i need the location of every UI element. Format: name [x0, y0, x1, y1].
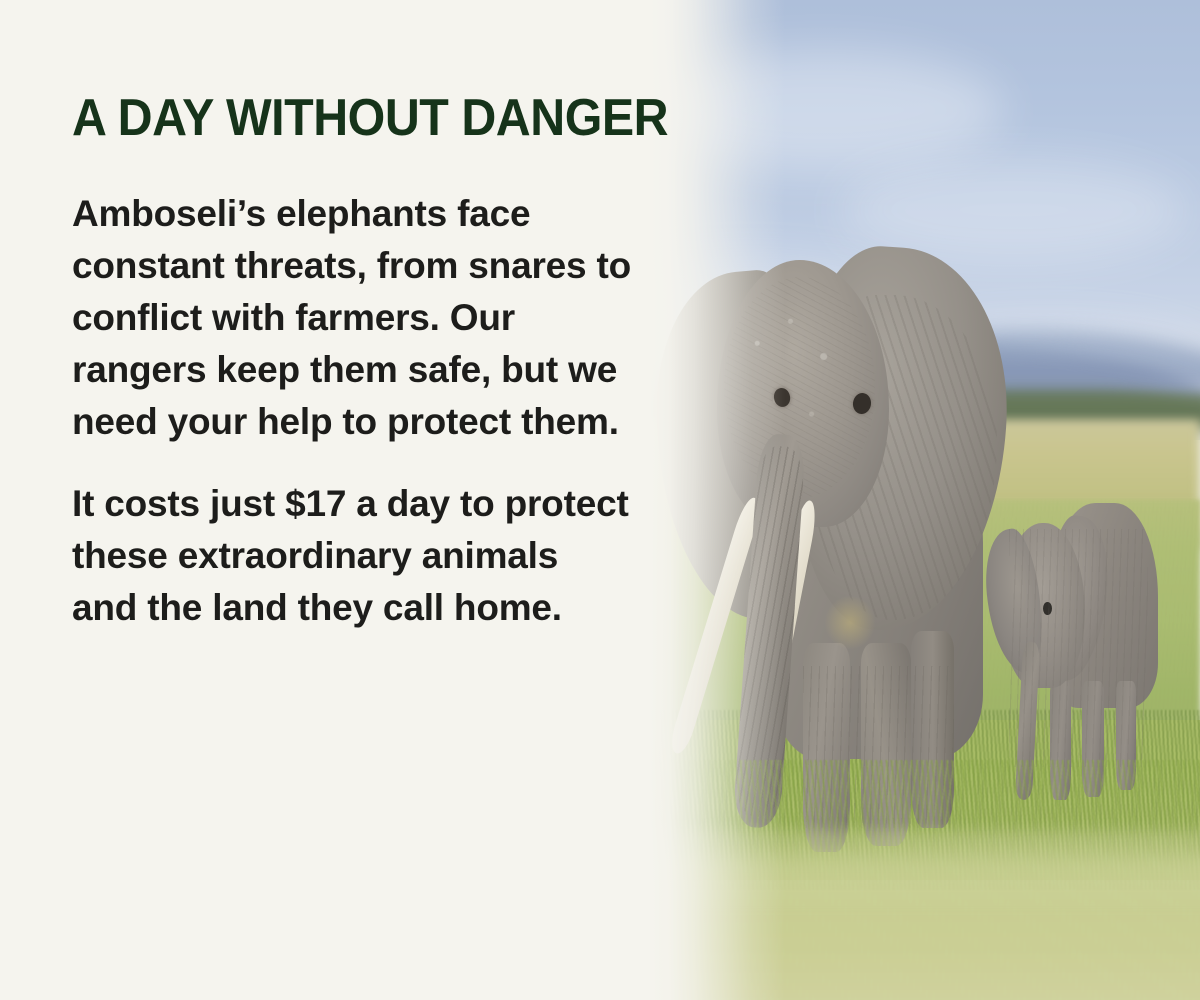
- blurred-foreground-grass-texture: [620, 830, 1200, 1000]
- body-paragraph-2: It costs just $17 a day to protect these…: [72, 478, 632, 634]
- adult-elephant: [666, 260, 1026, 840]
- photo-scene: [620, 0, 1200, 1000]
- elephant-photo: [620, 0, 1200, 1000]
- cloud: [643, 50, 1003, 170]
- elephant-calf: [991, 470, 1165, 800]
- elephant-belly-highlight: [825, 596, 875, 648]
- poster: A DAY WITHOUT DANGER Amboseli’s elephant…: [0, 0, 1200, 1000]
- cloud: [840, 160, 1188, 260]
- calf-texture: [1009, 529, 1148, 767]
- text-panel: A DAY WITHOUT DANGER Amboseli’s elephant…: [72, 92, 672, 634]
- body-paragraph-1: Amboseli’s elephants face constant threa…: [72, 188, 632, 448]
- page-title: A DAY WITHOUT DANGER: [72, 92, 630, 144]
